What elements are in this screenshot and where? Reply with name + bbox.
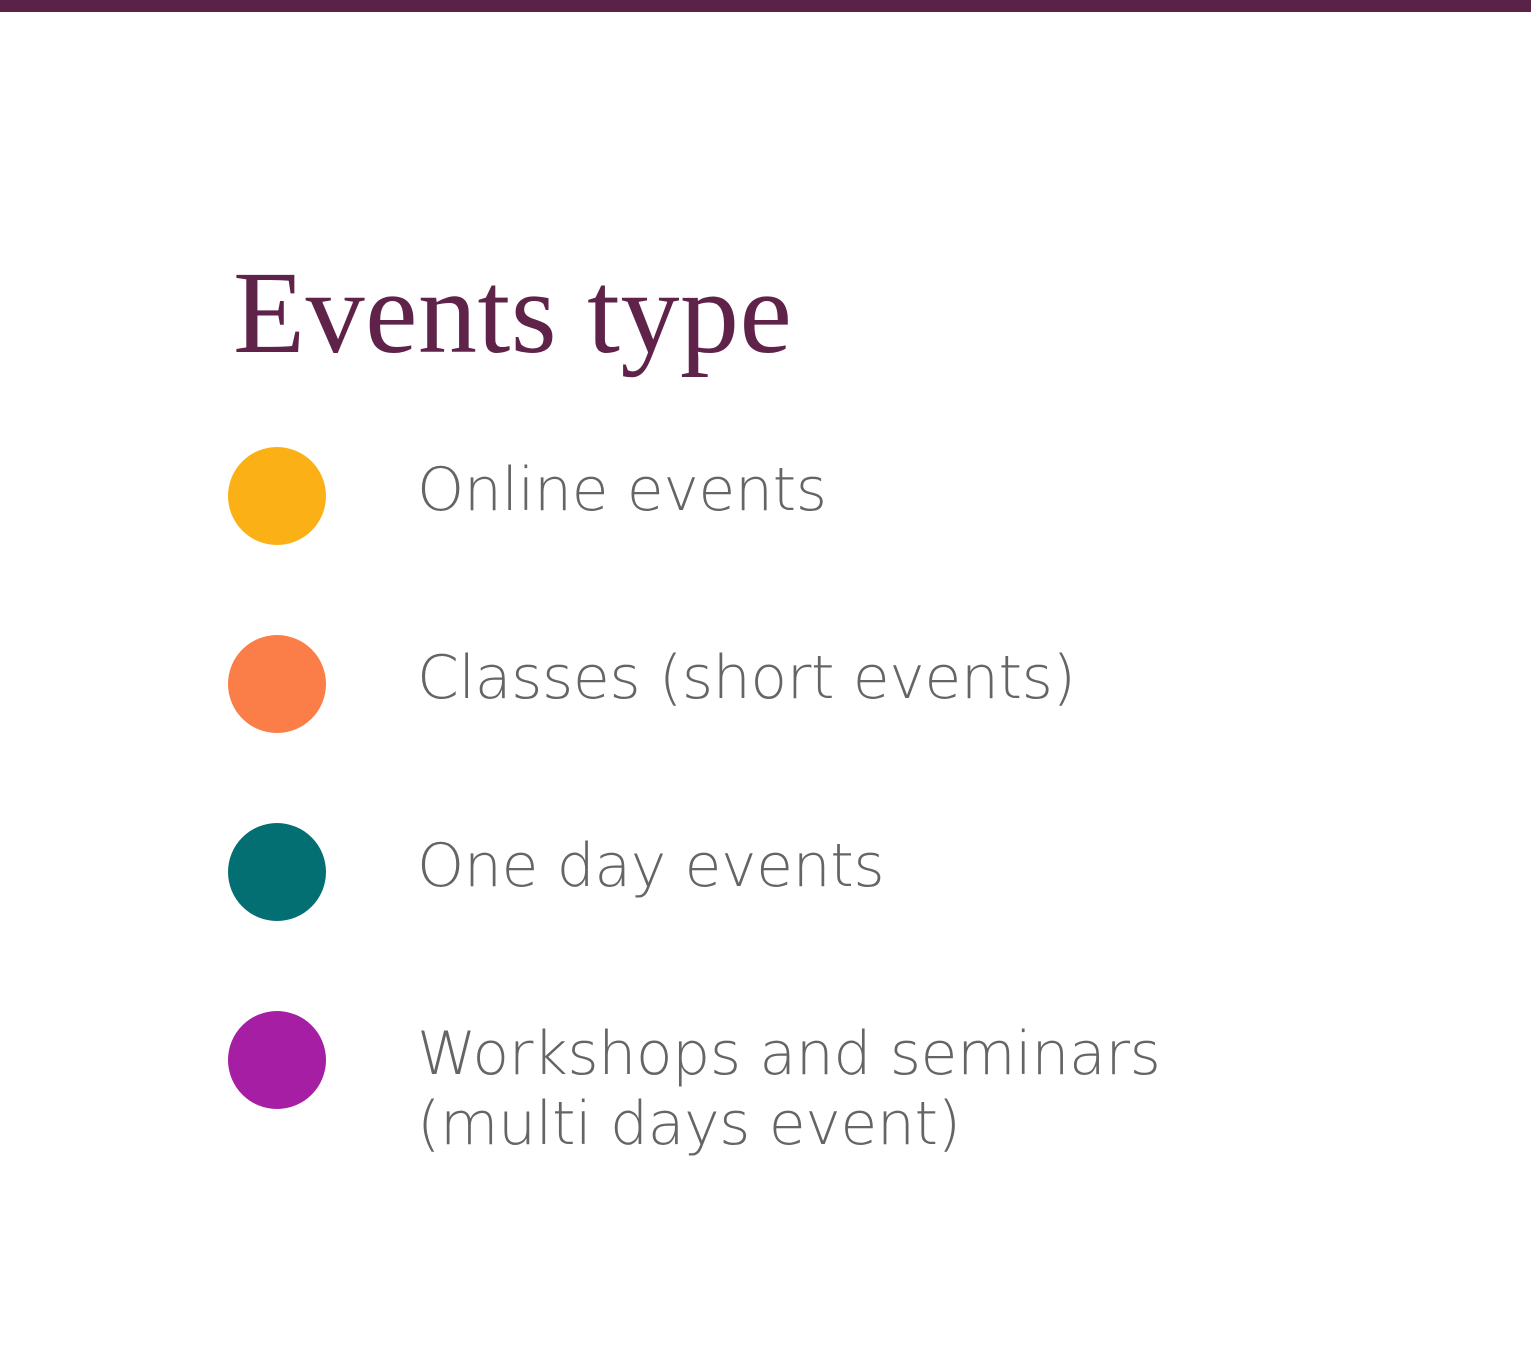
list-item-label: Classes (short events): [417, 635, 1428, 713]
list-item: Workshops and seminars (multi days event…: [228, 1011, 1428, 1159]
list-item-label: Online events: [417, 447, 1428, 525]
bullet-circle-one-day-events-icon: [228, 823, 326, 921]
slide-canvas: Events type Online events Classes (short…: [0, 0, 1531, 1352]
bullet-circle-online-events-icon: [228, 447, 326, 545]
list-item-label: One day events: [417, 823, 1428, 901]
top-accent-bar: [0, 0, 1531, 12]
events-type-legend-list: Online events Classes (short events) One…: [228, 447, 1428, 1159]
list-item: Classes (short events): [228, 635, 1428, 823]
page-title: Events type: [233, 251, 792, 375]
bullet-circle-workshops-seminars-icon: [228, 1011, 326, 1109]
list-item: One day events: [228, 823, 1428, 1011]
bullet-circle-classes-icon: [228, 635, 326, 733]
list-item-label: Workshops and seminars (multi days event…: [417, 1011, 1428, 1159]
list-item: Online events: [228, 447, 1428, 635]
